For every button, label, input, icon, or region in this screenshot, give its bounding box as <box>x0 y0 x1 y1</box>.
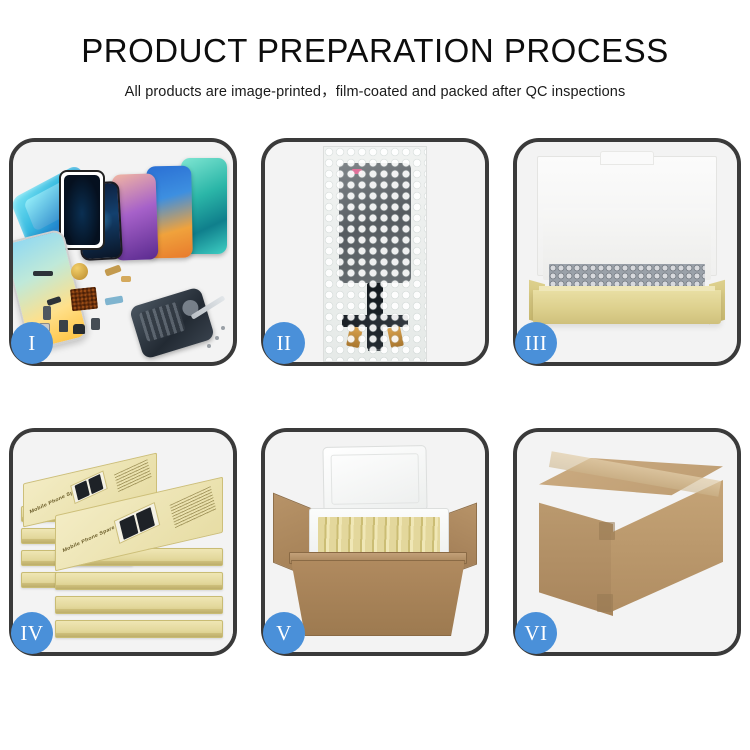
process-step-panel-2: II <box>261 138 489 366</box>
process-step-panel-6: VI <box>513 428 741 656</box>
step-badge-4: IV <box>11 612 53 654</box>
tape-tab-graphic <box>599 522 615 540</box>
kraft-box-stack-graphic: Mobile Phone Spare Parts Mobile Phone Sp… <box>21 450 227 640</box>
page-title: PRODUCT PREPARATION PROCESS <box>0 34 750 69</box>
phone-front-glass-graphic <box>59 170 105 250</box>
step-badge-2: II <box>263 322 305 364</box>
process-step-panel-4: Mobile Phone Spare Parts Mobile Phone Sp… <box>9 428 237 656</box>
tray-front-panel-graphic <box>533 290 721 324</box>
step-badge-1: I <box>11 322 53 364</box>
part-graphic <box>105 295 124 305</box>
carton-body-graphic <box>291 560 465 636</box>
box-product-image <box>70 470 108 504</box>
part-graphic <box>91 318 100 330</box>
speaker-coil-graphic <box>71 263 88 280</box>
kraft-box-graphic <box>55 596 223 614</box>
bubble-wrap-bag-graphic <box>323 146 427 362</box>
part-graphic <box>121 276 131 282</box>
step-badge-5: V <box>263 612 305 654</box>
connector-grid-graphic <box>70 287 98 312</box>
kraft-box-graphic <box>55 572 223 590</box>
page-header: PRODUCT PREPARATION PROCESS All products… <box>0 0 750 101</box>
carton-right-face-graphic <box>611 480 723 612</box>
box-spec-text-graphic <box>114 459 152 493</box>
step-badge-6: VI <box>515 612 557 654</box>
screw-graphic <box>215 336 219 340</box>
part-graphic <box>73 324 85 334</box>
step-badge-3: III <box>515 322 557 364</box>
part-graphic <box>43 306 51 320</box>
part-graphic <box>59 320 68 332</box>
open-kraft-tray-graphic <box>529 156 725 346</box>
process-step-panel-1: I <box>9 138 237 366</box>
screw-graphic <box>207 344 211 348</box>
part-graphic <box>33 271 53 276</box>
box-product-image <box>114 502 161 544</box>
screw-graphic <box>221 326 225 330</box>
tape-tab-graphic <box>597 594 613 612</box>
bubble-texture-graphic <box>324 147 426 361</box>
phone-chassis-graphic <box>129 286 216 359</box>
box-spec-text-graphic <box>170 486 217 529</box>
foam-lid-graphic <box>322 445 427 513</box>
page-subtitle: All products are image-printed，film-coat… <box>0 80 750 101</box>
process-step-grid: I II <box>9 138 741 656</box>
process-step-panel-3: III <box>513 138 741 366</box>
part-graphic <box>104 264 121 276</box>
sealed-carton-graphic <box>539 458 723 624</box>
process-step-panel-5: V <box>261 428 489 656</box>
kraft-box-graphic <box>55 620 223 638</box>
